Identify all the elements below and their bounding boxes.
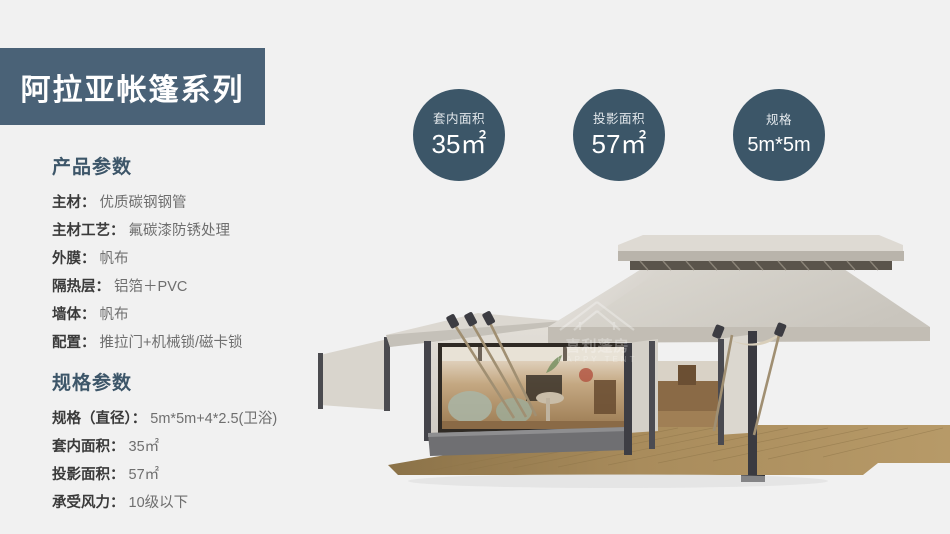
param-value: 35㎡ (129, 439, 160, 455)
param-row: 墙体： 帆布 (52, 301, 342, 329)
stat-circle-projected-area: 投影面积 57㎡ (573, 89, 665, 181)
support-column (748, 331, 757, 479)
param-label: 主材： (52, 195, 96, 211)
specification-panel: 产品参数 主材： 优质碳钢钢管 主材工艺： 氟碳漆防锈处理 外膜： 帆布 隔热层… (52, 155, 342, 517)
page-title: 阿拉亚帐篷系列 (21, 65, 245, 109)
support-column (649, 341, 655, 449)
param-value: 铝箔＋PVC (114, 279, 187, 295)
param-value: 5m*5m+4*2.5(卫浴) (150, 411, 277, 427)
param-row: 外膜： 帆布 (52, 245, 342, 273)
param-value: 氟碳漆防锈处理 (129, 223, 231, 239)
param-value: 推拉门+机械锁/磁卡锁 (100, 335, 243, 351)
param-label: 规格（直径）： (52, 411, 146, 427)
param-label: 配置： (52, 335, 96, 351)
stat-value: 57㎡ (592, 128, 647, 160)
param-row: 隔热层： 铝箔＋PVC (52, 273, 342, 301)
spec-params-heading: 规格参数 (52, 371, 342, 397)
param-label: 外膜： (52, 251, 96, 267)
annex-wall (320, 339, 388, 410)
param-row: 投影面积： 57㎡ (52, 461, 342, 489)
stat-circle-interior-area: 套内面积 35㎡ (413, 89, 505, 181)
param-value: 10级以下 (129, 495, 189, 511)
param-label: 主材工艺： (52, 223, 125, 239)
stat-label: 投影面积 (593, 111, 645, 127)
stat-circle-dimensions: 规格 5m*5m (733, 89, 825, 181)
product-spec-slide: 阿拉亚帐篷系列 产品参数 主材： 优质碳钢钢管 主材工艺： 氟碳漆防锈处理 外膜… (0, 0, 950, 534)
stat-label: 套内面积 (433, 111, 485, 127)
param-label: 投影面积： (52, 467, 125, 483)
param-value: 帆布 (100, 251, 129, 267)
param-label: 墙体： (52, 307, 96, 323)
param-value: 帆布 (100, 307, 129, 323)
stat-circle-group: 套内面积 35㎡ 投影面积 57㎡ 规格 5m*5m (413, 89, 825, 181)
param-label: 隔热层： (52, 279, 110, 295)
param-row: 主材工艺： 氟碳漆防锈处理 (52, 217, 342, 245)
title-banner: 阿拉亚帐篷系列 (0, 48, 265, 125)
product-params-list: 主材： 优质碳钢钢管 主材工艺： 氟碳漆防锈处理 外膜： 帆布 隔热层： 铝箔＋… (52, 189, 342, 357)
param-label: 承受风力： (52, 495, 125, 511)
param-value: 优质碳钢钢管 (100, 195, 187, 211)
param-row: 规格（直径）： 5m*5m+4*2.5(卫浴) (52, 405, 342, 433)
tent-render-image (318, 235, 950, 495)
param-row: 主材： 优质碳钢钢管 (52, 189, 342, 217)
param-row: 配置： 推拉门+机械锁/磁卡锁 (52, 329, 342, 357)
stat-value: 35㎡ (432, 128, 487, 160)
stat-label: 规格 (766, 112, 792, 128)
param-row: 承受风力： 10级以下 (52, 489, 342, 517)
support-column (624, 343, 632, 455)
param-row: 套内面积： 35㎡ (52, 433, 342, 461)
product-params-heading: 产品参数 (52, 155, 342, 181)
param-label: 套内面积： (52, 439, 125, 455)
stat-value: 5m*5m (747, 131, 810, 159)
spec-params-list: 规格（直径）： 5m*5m+4*2.5(卫浴) 套内面积： 35㎡ 投影面积： … (52, 405, 342, 517)
param-value: 57㎡ (129, 467, 160, 483)
